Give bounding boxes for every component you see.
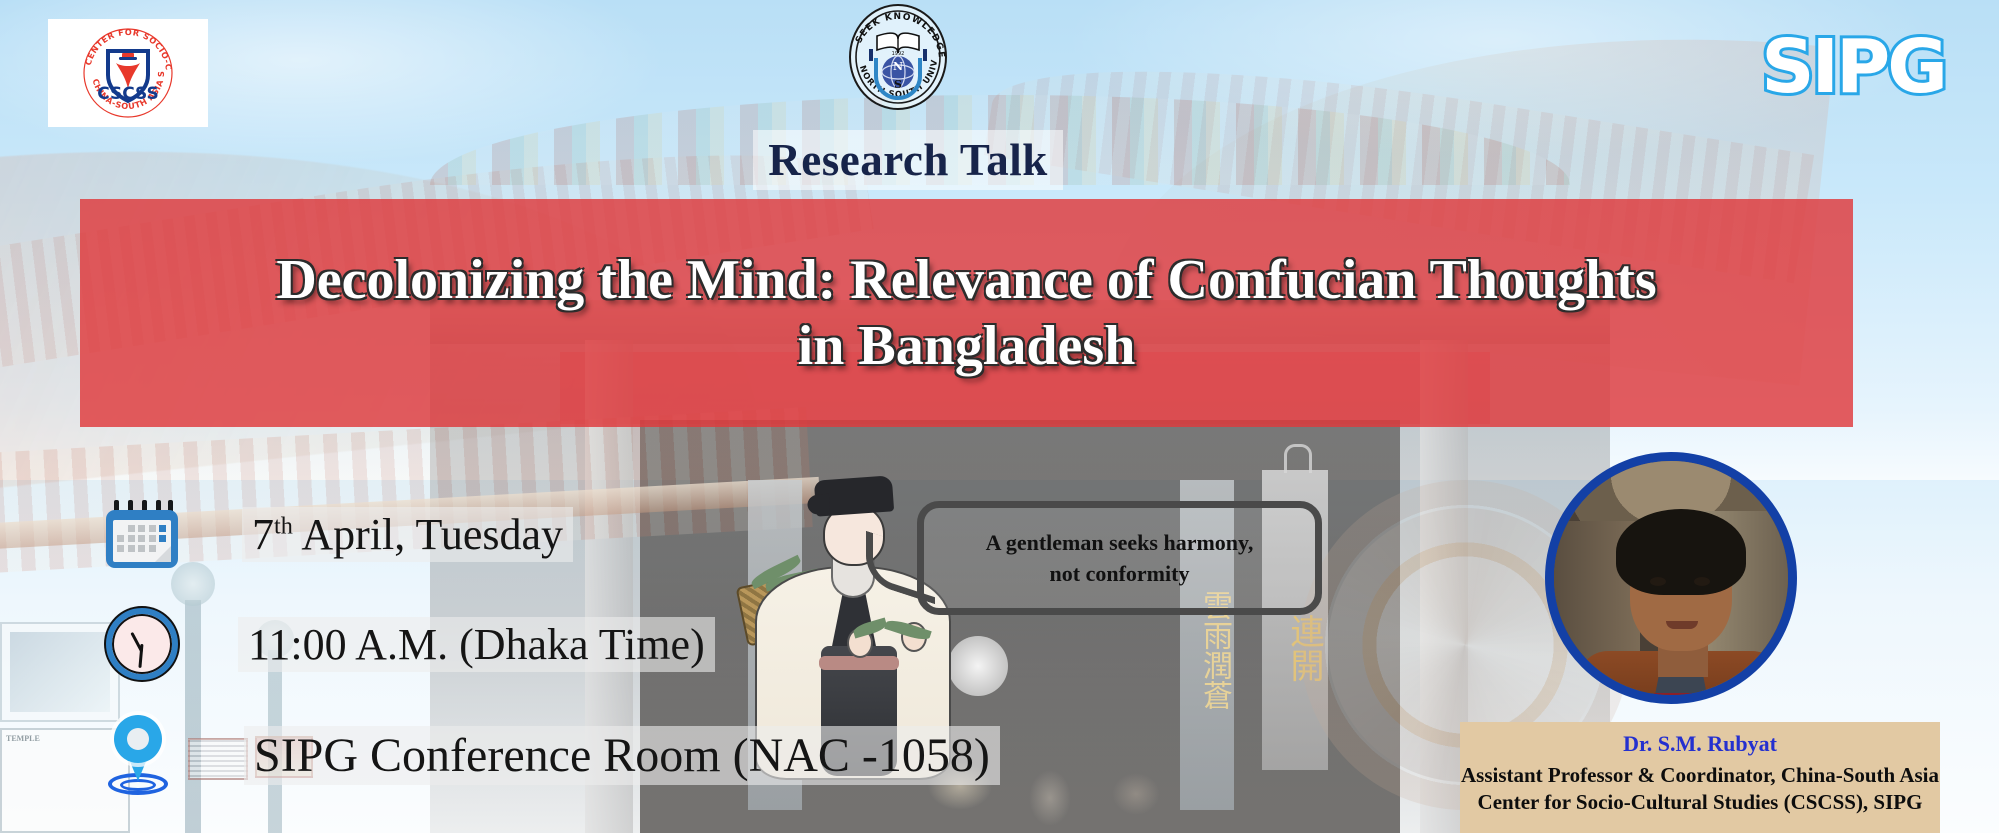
event-date-rest: April, Tuesday	[293, 510, 563, 559]
svg-text:S: S	[894, 78, 902, 91]
cscss-shield-logo-icon: CENTER FOR SOCIO-CULTURAL CHINA-SOUTH AS…	[80, 25, 176, 121]
speech-bubble-tail	[866, 542, 928, 586]
kicker-label: Research Talk	[768, 134, 1047, 186]
cscss-logo: CENTER FOR SOCIO-CULTURAL CHINA-SOUTH AS…	[48, 19, 208, 127]
scholar-sash	[819, 656, 899, 670]
quote-line-2: not conformity	[1050, 561, 1190, 586]
speaker-role-line-2: Center for Socio-Cultural Studies (CSCSS…	[1460, 789, 1940, 816]
event-time-row: 11:00 A.M. (Dhaka Time)	[106, 608, 715, 680]
svg-text:CSCSS: CSCSS	[97, 84, 159, 104]
clock-icon	[106, 608, 178, 680]
event-venue-row: SIPG Conference Room (NAC -1058)	[102, 715, 1000, 795]
svg-text:N: N	[893, 60, 903, 73]
event-date-ordinal: th	[274, 512, 293, 539]
scholar-hat	[814, 475, 894, 516]
speaker-role-line-1: Assistant Professor & Coordinator, China…	[1460, 762, 1940, 789]
avatar	[1545, 452, 1797, 704]
title-banner: Decolonizing the Mind: Relevance of Conf…	[80, 199, 1853, 427]
speech-bubble-icon: A gentleman seeks harmony, not conformit…	[917, 501, 1322, 615]
event-venue-text: SIPG Conference Room (NAC -1058)	[244, 726, 1000, 785]
location-pin-icon	[102, 715, 174, 795]
event-date-row: 7th April, Tuesday	[106, 500, 573, 568]
calendar-icon	[106, 500, 178, 568]
page-title: Decolonizing the Mind: Relevance of Conf…	[252, 247, 1682, 379]
kicker-band: Research Talk	[753, 130, 1063, 190]
quote-text: A gentleman seeks harmony, not conformit…	[955, 527, 1285, 589]
speaker-info-card: Dr. S.M. Rubyat Assistant Professor & Co…	[1460, 722, 1940, 833]
event-date-day: 7	[252, 510, 274, 559]
event-poster: 竹報青雲 雲雨潤蒼 連開 TEMPLE CENTER FOR SOCIO-CUL…	[0, 0, 1999, 833]
sipg-wordmark-logo-icon: SIPG	[1761, 30, 1945, 104]
quote-line-1: A gentleman seeks harmony,	[986, 530, 1254, 555]
svg-text:1992: 1992	[892, 51, 905, 57]
temple-info-panel	[0, 622, 120, 722]
event-time-text: 11:00 A.M. (Dhaka Time)	[238, 617, 715, 672]
speaker-name: Dr. S.M. Rubyat	[1460, 731, 1940, 757]
north-south-university-seal-icon: SEEK KNOWLEDGE NORTH SOUTH UNIVERSITY N …	[843, 2, 953, 112]
event-date-text: 7th April, Tuesday	[242, 507, 573, 562]
